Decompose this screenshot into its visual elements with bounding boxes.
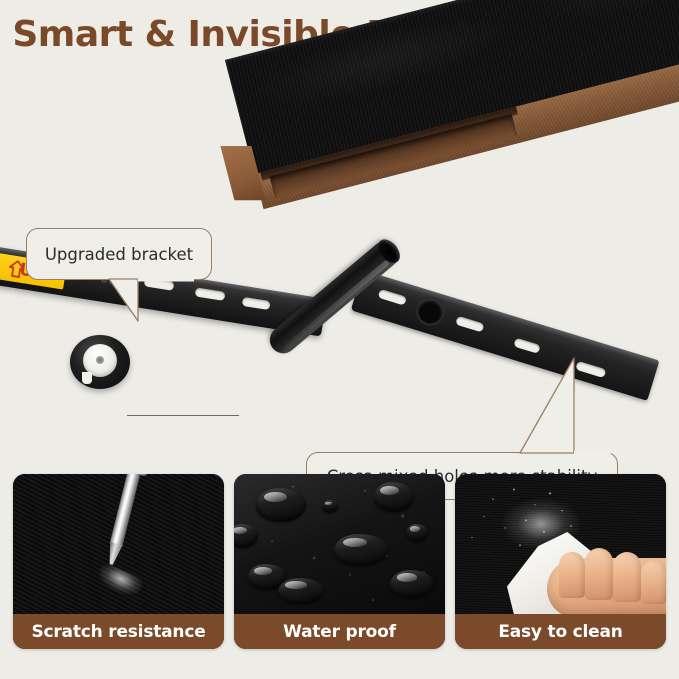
- feature-panel-easy-to-clean[interactable]: Easy to clean: [455, 474, 666, 649]
- infographic-canvas: Smart & Invisible Bracket Design: [0, 0, 679, 679]
- water-droplet: [390, 570, 434, 598]
- water-droplet: [374, 482, 414, 512]
- water-droplet: [278, 578, 324, 604]
- scratch-resistance-image: [13, 474, 224, 614]
- callout-upgraded-bracket: Upgraded bracket: [26, 228, 212, 280]
- water-droplet: [256, 488, 306, 522]
- finger: [585, 548, 613, 600]
- water-droplet: [406, 524, 428, 542]
- feature-panel-row: Scratch resistance Water proof: [13, 474, 668, 649]
- feature-caption-water-proof: Water proof: [234, 614, 445, 649]
- hero-product-scene: UP UP Upgraded bracket Cross-mixed holes…: [0, 60, 679, 460]
- rubber-grommet-cap: [70, 335, 130, 389]
- finger: [559, 552, 585, 598]
- finger: [641, 560, 666, 604]
- callout-upgraded-bracket-label: Upgraded bracket: [45, 245, 193, 264]
- feature-caption-scratch-resistance: Scratch resistance: [13, 614, 224, 649]
- bracket-right-plate-body: [351, 270, 660, 401]
- screwdriver-tip: [105, 542, 123, 566]
- grommet-leader-line: [127, 415, 239, 416]
- shelf-board: [225, 0, 679, 302]
- feature-panel-scratch-resistance[interactable]: Scratch resistance: [13, 474, 224, 649]
- feature-caption-easy-to-clean: Easy to clean: [455, 614, 666, 649]
- grommet-notch: [82, 372, 92, 384]
- easy-to-clean-image: [455, 474, 666, 614]
- water-proof-image: [234, 474, 445, 614]
- water-droplet: [322, 500, 338, 513]
- bracket-right-plate: [351, 270, 660, 401]
- feature-panel-water-proof[interactable]: Water proof: [234, 474, 445, 649]
- finger: [613, 552, 641, 602]
- water-droplet: [334, 534, 388, 566]
